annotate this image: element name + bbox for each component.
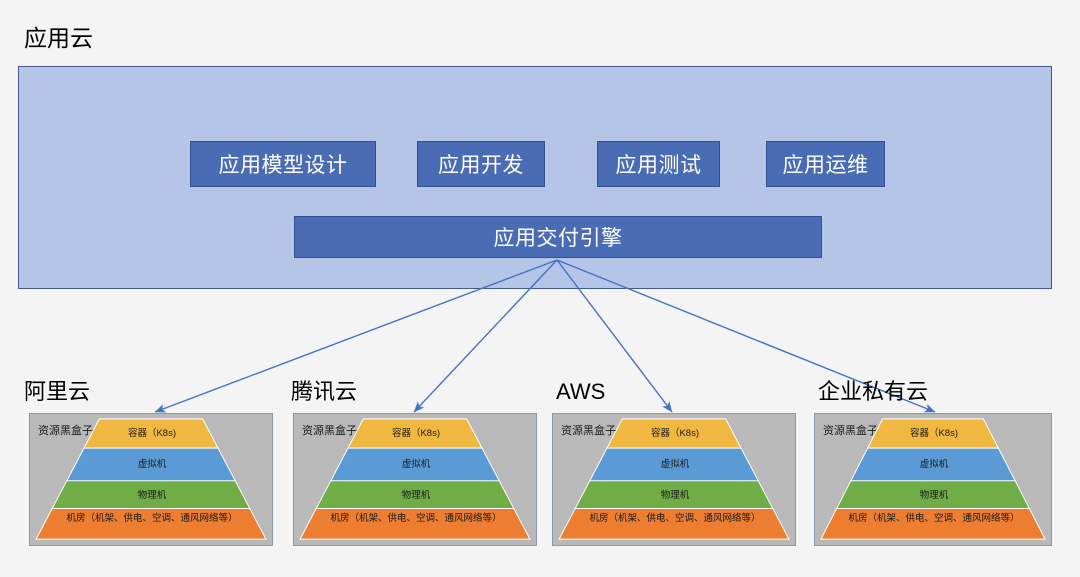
- resource-panel-aws: 资源黑盒子容器（K8s)虚拟机物理机机房（机架、供电、空调、通风网络等）: [552, 413, 796, 546]
- pyramid-layer-label-3: 机房（机架、供电、空调、通风网络等）: [41, 513, 262, 525]
- pyramid-layer-label-1: 虚拟机: [857, 459, 1012, 471]
- application-delivery-engine-box[interactable]: 应用交付引擎: [294, 216, 822, 258]
- pyramid-layer-label-3: 机房（机架、供电、空调、通风网络等）: [826, 513, 1042, 525]
- capability-box-app-model-design[interactable]: 应用模型设计: [190, 141, 376, 187]
- pyramid-layer-label-2: 物理机: [322, 490, 511, 502]
- page-title: 应用云: [24, 27, 93, 50]
- pyramid-layer-label-0: 容器（K8s): [613, 428, 737, 440]
- resource-panel-tencent: 资源黑盒子容器（K8s)虚拟机物理机机房（机架、供电、空调、通风网络等）: [293, 413, 537, 546]
- pyramid-layer-label-2: 物理机: [581, 490, 770, 502]
- pyramid-layer-label-3: 机房（机架、供电、空调、通风网络等）: [305, 513, 526, 525]
- capability-box-app-testing[interactable]: 应用测试: [597, 141, 720, 187]
- pyramid-layer-label-2: 物理机: [58, 490, 247, 502]
- capability-box-app-operations[interactable]: 应用运维: [766, 141, 885, 187]
- cloud-title-private-cloud: 企业私有云: [818, 381, 928, 403]
- pyramid-layer-label-1: 虚拟机: [72, 459, 231, 471]
- pyramid-layer-label-0: 容器（K8s): [354, 428, 478, 440]
- resource-panel-aliyun: 资源黑盒子容器（K8s)虚拟机物理机机房（机架、供电、空调、通风网络等）: [29, 413, 273, 546]
- pyramid-layer-label-3: 机房（机架、供电、空调、通风网络等）: [564, 513, 785, 525]
- pyramid-layer-label-0: 容器（K8s): [90, 428, 214, 440]
- pyramid-layer-label-1: 虚拟机: [595, 459, 754, 471]
- resource-panel-private-cloud: 资源黑盒子容器（K8s)虚拟机物理机机房（机架、供电、空调、通风网络等）: [814, 413, 1052, 546]
- cloud-title-aws: AWS: [556, 381, 605, 403]
- diagram-canvas: 应用云 应用模型设计 应用开发 应用测试 应用运维 应用交付引擎 阿里云 腾讯云…: [0, 0, 1080, 577]
- cloud-title-aliyun: 阿里云: [24, 381, 90, 403]
- pyramid-layer-label-1: 虚拟机: [336, 459, 495, 471]
- capability-box-app-development[interactable]: 应用开发: [417, 141, 545, 187]
- pyramid-layer-label-0: 容器（K8s): [874, 428, 995, 440]
- cloud-title-tencent: 腾讯云: [291, 381, 357, 403]
- pyramid-layer-label-2: 物理机: [842, 490, 1026, 502]
